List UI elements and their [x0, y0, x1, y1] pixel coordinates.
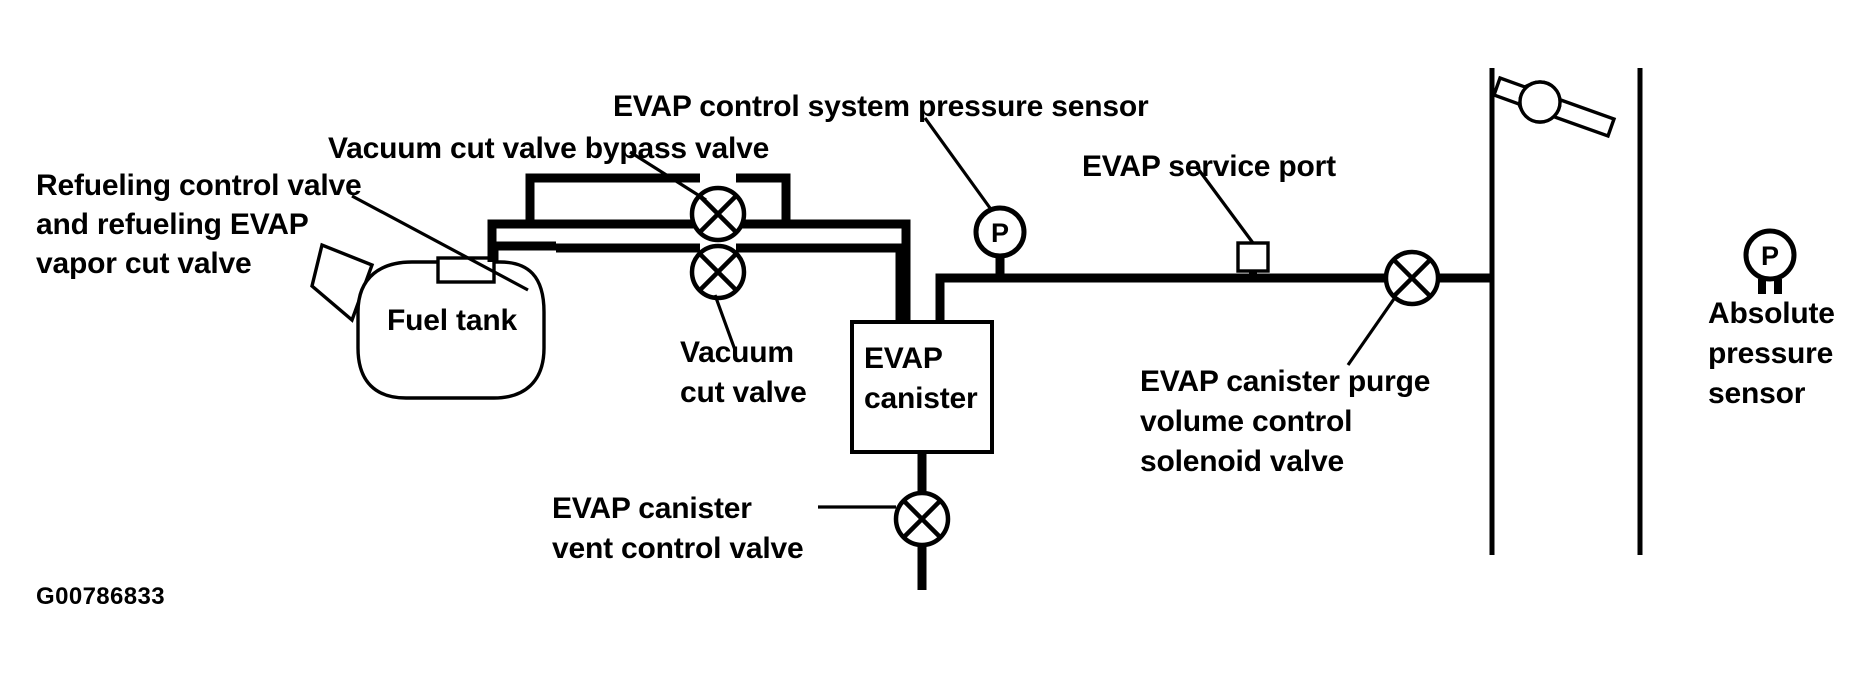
fuel-tank-group: Fuel tank [312, 245, 544, 398]
label-evap-canister-vent-control-valve-line2: vent control valve [552, 532, 804, 565]
absolute-pressure-sensor-glyph: P [1761, 241, 1779, 271]
label-evap-canister-vent-control-valve-line1: EVAP canister [552, 492, 752, 525]
evap-canister-vent-control-valve-symbol[interactable] [896, 493, 948, 545]
intake-duct-group [1492, 68, 1640, 555]
label-absolute-pressure-sensor-line3: sensor [1708, 377, 1806, 410]
label-evap-service-port: EVAP service port [1082, 150, 1336, 183]
fuel-tank-label: Fuel tank [387, 304, 517, 337]
label-evap-control-system-pressure-sensor: EVAP control system pressure sensor [613, 90, 1149, 123]
label-evap-canister-purge-valve-line2: volume control [1140, 405, 1352, 438]
label-evap-canister-purge-valve-line3: solenoid valve [1140, 445, 1344, 478]
label-refueling-control-valve-line1: Refueling control valve [36, 169, 361, 202]
label-refueling-control-valve-line3: vapor cut valve [36, 247, 251, 280]
leader-evap-canister-purge-valve [1348, 296, 1396, 365]
leader-evap-control-system-pressure-sensor [925, 118, 990, 208]
lower-vapor-line [494, 246, 556, 262]
evap-canister-purge-volume-control-solenoid-valve-symbol[interactable] [1386, 252, 1438, 304]
evap-canister-label-line1: EVAP [864, 342, 943, 375]
label-refueling-control-valve-line2: and refueling EVAP [36, 208, 309, 241]
evap-canister-group: EVAP canister [852, 322, 992, 452]
label-absolute-pressure-sensor-line1: Absolute [1708, 297, 1835, 330]
refueling-control-valve-box [438, 258, 494, 282]
evap-control-system-pressure-sensor-symbol[interactable]: P [976, 208, 1024, 256]
throttle-valve-hub-ring [1520, 82, 1560, 122]
evap-service-port-box [1238, 243, 1268, 271]
lower-vapor-line-run2 [736, 248, 900, 322]
label-vacuum-cut-valve-bypass-valve: Vacuum cut valve bypass valve [328, 132, 769, 165]
label-vacuum-cut-valve-line2: cut valve [680, 376, 807, 409]
vacuum-cut-valve-symbol[interactable] [692, 246, 744, 298]
label-vacuum-cut-valve-line1: Vacuum [680, 336, 794, 369]
diagram-canvas: Fuel tank [0, 0, 1862, 673]
label-absolute-pressure-sensor-line2: pressure [1708, 337, 1833, 370]
pressure-sensor-glyph: P [991, 218, 1009, 248]
figure-code: G00786833 [36, 583, 165, 610]
evap-service-port-symbol[interactable] [1238, 243, 1268, 278]
upper-vapor-line-right [736, 224, 906, 322]
bypass-loop-left [530, 178, 700, 224]
label-evap-canister-purge-valve-line1: EVAP canister purge [1140, 365, 1430, 398]
evap-canister-label-line2: canister [864, 382, 978, 415]
absolute-pressure-sensor-symbol[interactable]: P [1746, 231, 1794, 294]
evap-system-diagram: Fuel tank [0, 0, 1862, 673]
